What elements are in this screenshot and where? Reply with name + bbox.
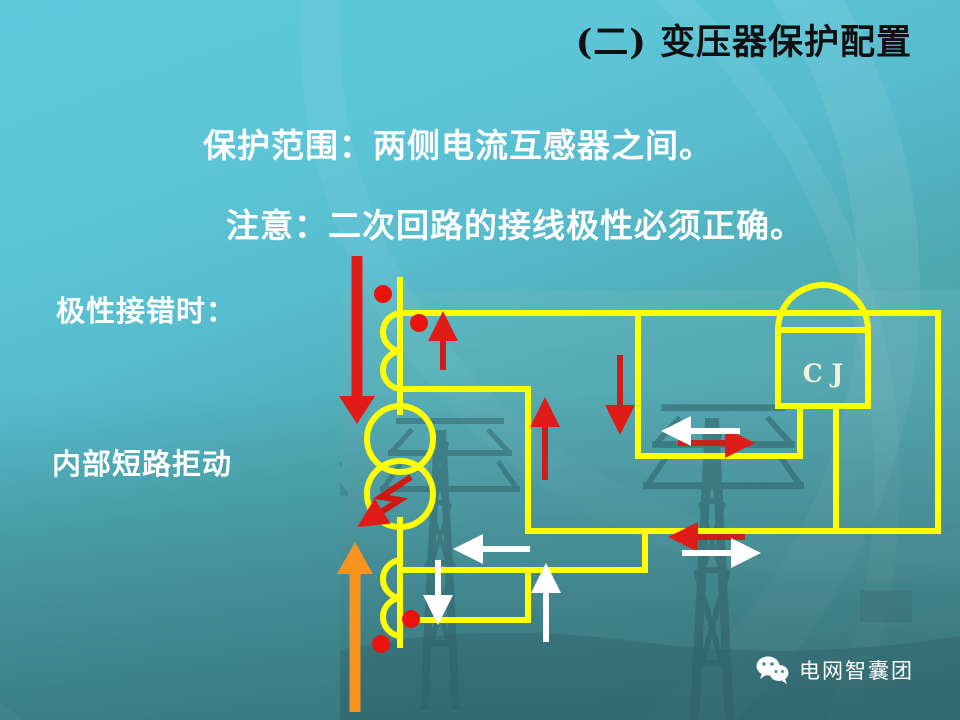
protection-circuit-diagram: C J bbox=[0, 0, 960, 720]
polarity-warning-text: 注意：二次回路的接线极性必须正确。 bbox=[226, 199, 804, 247]
relay-dome bbox=[778, 285, 868, 330]
polarity-dot-upper-right bbox=[410, 314, 428, 332]
label-internal-fault: 内部短路拒动 bbox=[52, 441, 232, 483]
polarity-dot-lower-left bbox=[372, 635, 390, 653]
fault-current-out-arrow bbox=[337, 542, 373, 712]
page-title: (二) 变压器保护配置 bbox=[576, 14, 912, 65]
wechat-icon bbox=[756, 655, 790, 685]
fault-current-in-arrow bbox=[339, 256, 375, 424]
slide-canvas: C J bbox=[0, 0, 960, 720]
internal-fault-symbol bbox=[370, 477, 411, 519]
relay-terminals bbox=[800, 406, 836, 533]
power-transformer bbox=[367, 406, 433, 527]
secondary-wiring bbox=[400, 313, 938, 620]
protection-scope-text: 保护范围：两侧电流互感器之间。 bbox=[203, 119, 713, 167]
watermark-text: 电网智囊团 bbox=[799, 655, 914, 685]
differential-relay[interactable]: C J bbox=[778, 285, 868, 406]
watermark: 电网智囊团 bbox=[756, 655, 914, 685]
polarity-dot-lower-right bbox=[402, 610, 420, 628]
label-wrong-polarity: 极性接错时： bbox=[56, 288, 236, 330]
polarity-dot-upper-left bbox=[374, 285, 392, 303]
relay-label: C J bbox=[803, 359, 843, 388]
